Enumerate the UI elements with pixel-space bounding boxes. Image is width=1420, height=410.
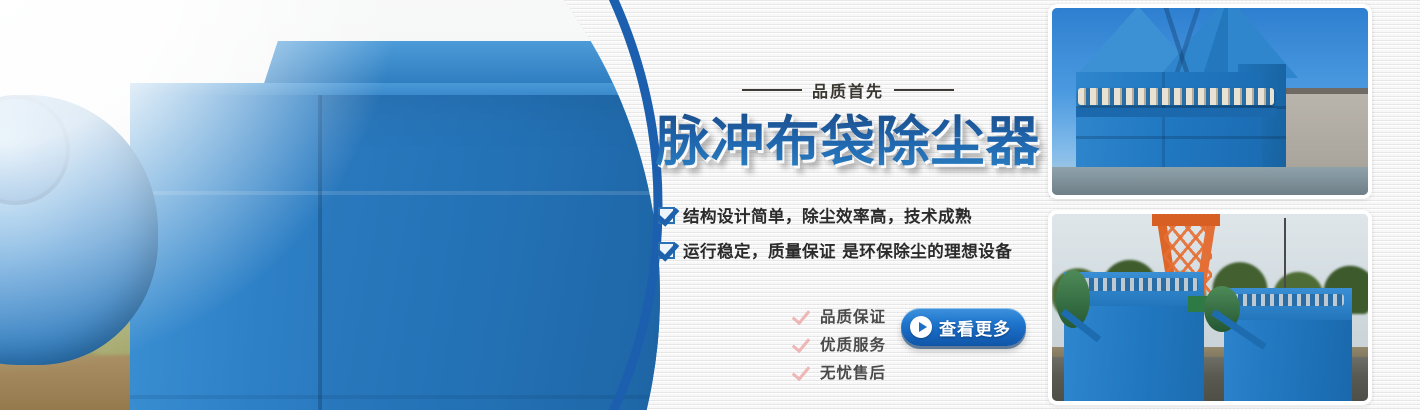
feature-bullet-list: 结构设计简单，除尘效率高，技术成熟 运行稳定，质量保证 是环保除尘的理想设备 [658,203,1058,273]
list-item: 品质保证 [793,305,913,327]
thumb2-nozzle-row [1076,278,1198,291]
blue-arc-decoration [0,0,700,410]
check-icon [793,307,811,325]
eyebrow: 品质首先 [648,78,1048,102]
checkbox-checked-icon [658,242,675,259]
view-more-label: 查看更多 [939,315,1011,340]
thumb2-unit-a [1064,306,1204,405]
thumb1-nozzle-row [1078,88,1274,105]
service-point-label: 优质服务 [820,333,886,355]
eyebrow-rule-left [742,89,802,91]
play-arrow-icon [910,316,932,338]
eyebrow-rule-right [894,89,954,91]
eyebrow-label: 品质首先 [812,78,884,102]
bullet-label: 运行稳定，质量保证 是环保除尘的理想设备 [683,238,1012,262]
thumbnail-column [1048,0,1420,410]
thumb2-crane-top [1152,214,1220,226]
list-item: 结构设计简单，除尘效率高，技术成熟 [658,203,1058,227]
check-icon [793,335,811,353]
thumb1-ledge [1076,108,1276,117]
thumb2-pole [1284,218,1286,296]
service-point-label: 无忧售后 [820,361,886,383]
hero-photo-stage [0,0,700,410]
copy-block: 品质首先 脉冲布袋除尘器 结构设计简单，除尘效率高，技术成熟 运行稳定，质量保证… [648,0,1048,410]
bullet-label: 结构设计简单，除尘效率高，技术成熟 [683,203,972,227]
view-more-button[interactable]: 查看更多 [901,308,1026,346]
page-title: 脉冲布袋除尘器 [648,112,1048,171]
list-item: 优质服务 [793,333,913,355]
thumb2-nozzle-row [1234,294,1344,306]
service-point-list: 品质保证 优质服务 无忧售后 [793,305,913,389]
dust-collector-twin-roof-photo[interactable] [1048,4,1372,199]
dust-collector-site-crane-photo[interactable] [1048,210,1372,405]
promo-banner: 品质首先 脉冲布袋除尘器 结构设计简单，除尘效率高，技术成熟 运行稳定，质量保证… [0,0,1420,410]
list-item: 无忧售后 [793,361,913,383]
thumb1-ground [1052,167,1368,195]
check-icon [793,363,811,381]
list-item: 运行稳定，质量保证 是环保除尘的理想设备 [658,238,1058,262]
thumbnail-artwork [1052,214,1368,401]
service-point-label: 品质保证 [820,305,886,327]
checkbox-checked-icon [658,207,675,224]
thumbnail-artwork [1052,8,1368,195]
